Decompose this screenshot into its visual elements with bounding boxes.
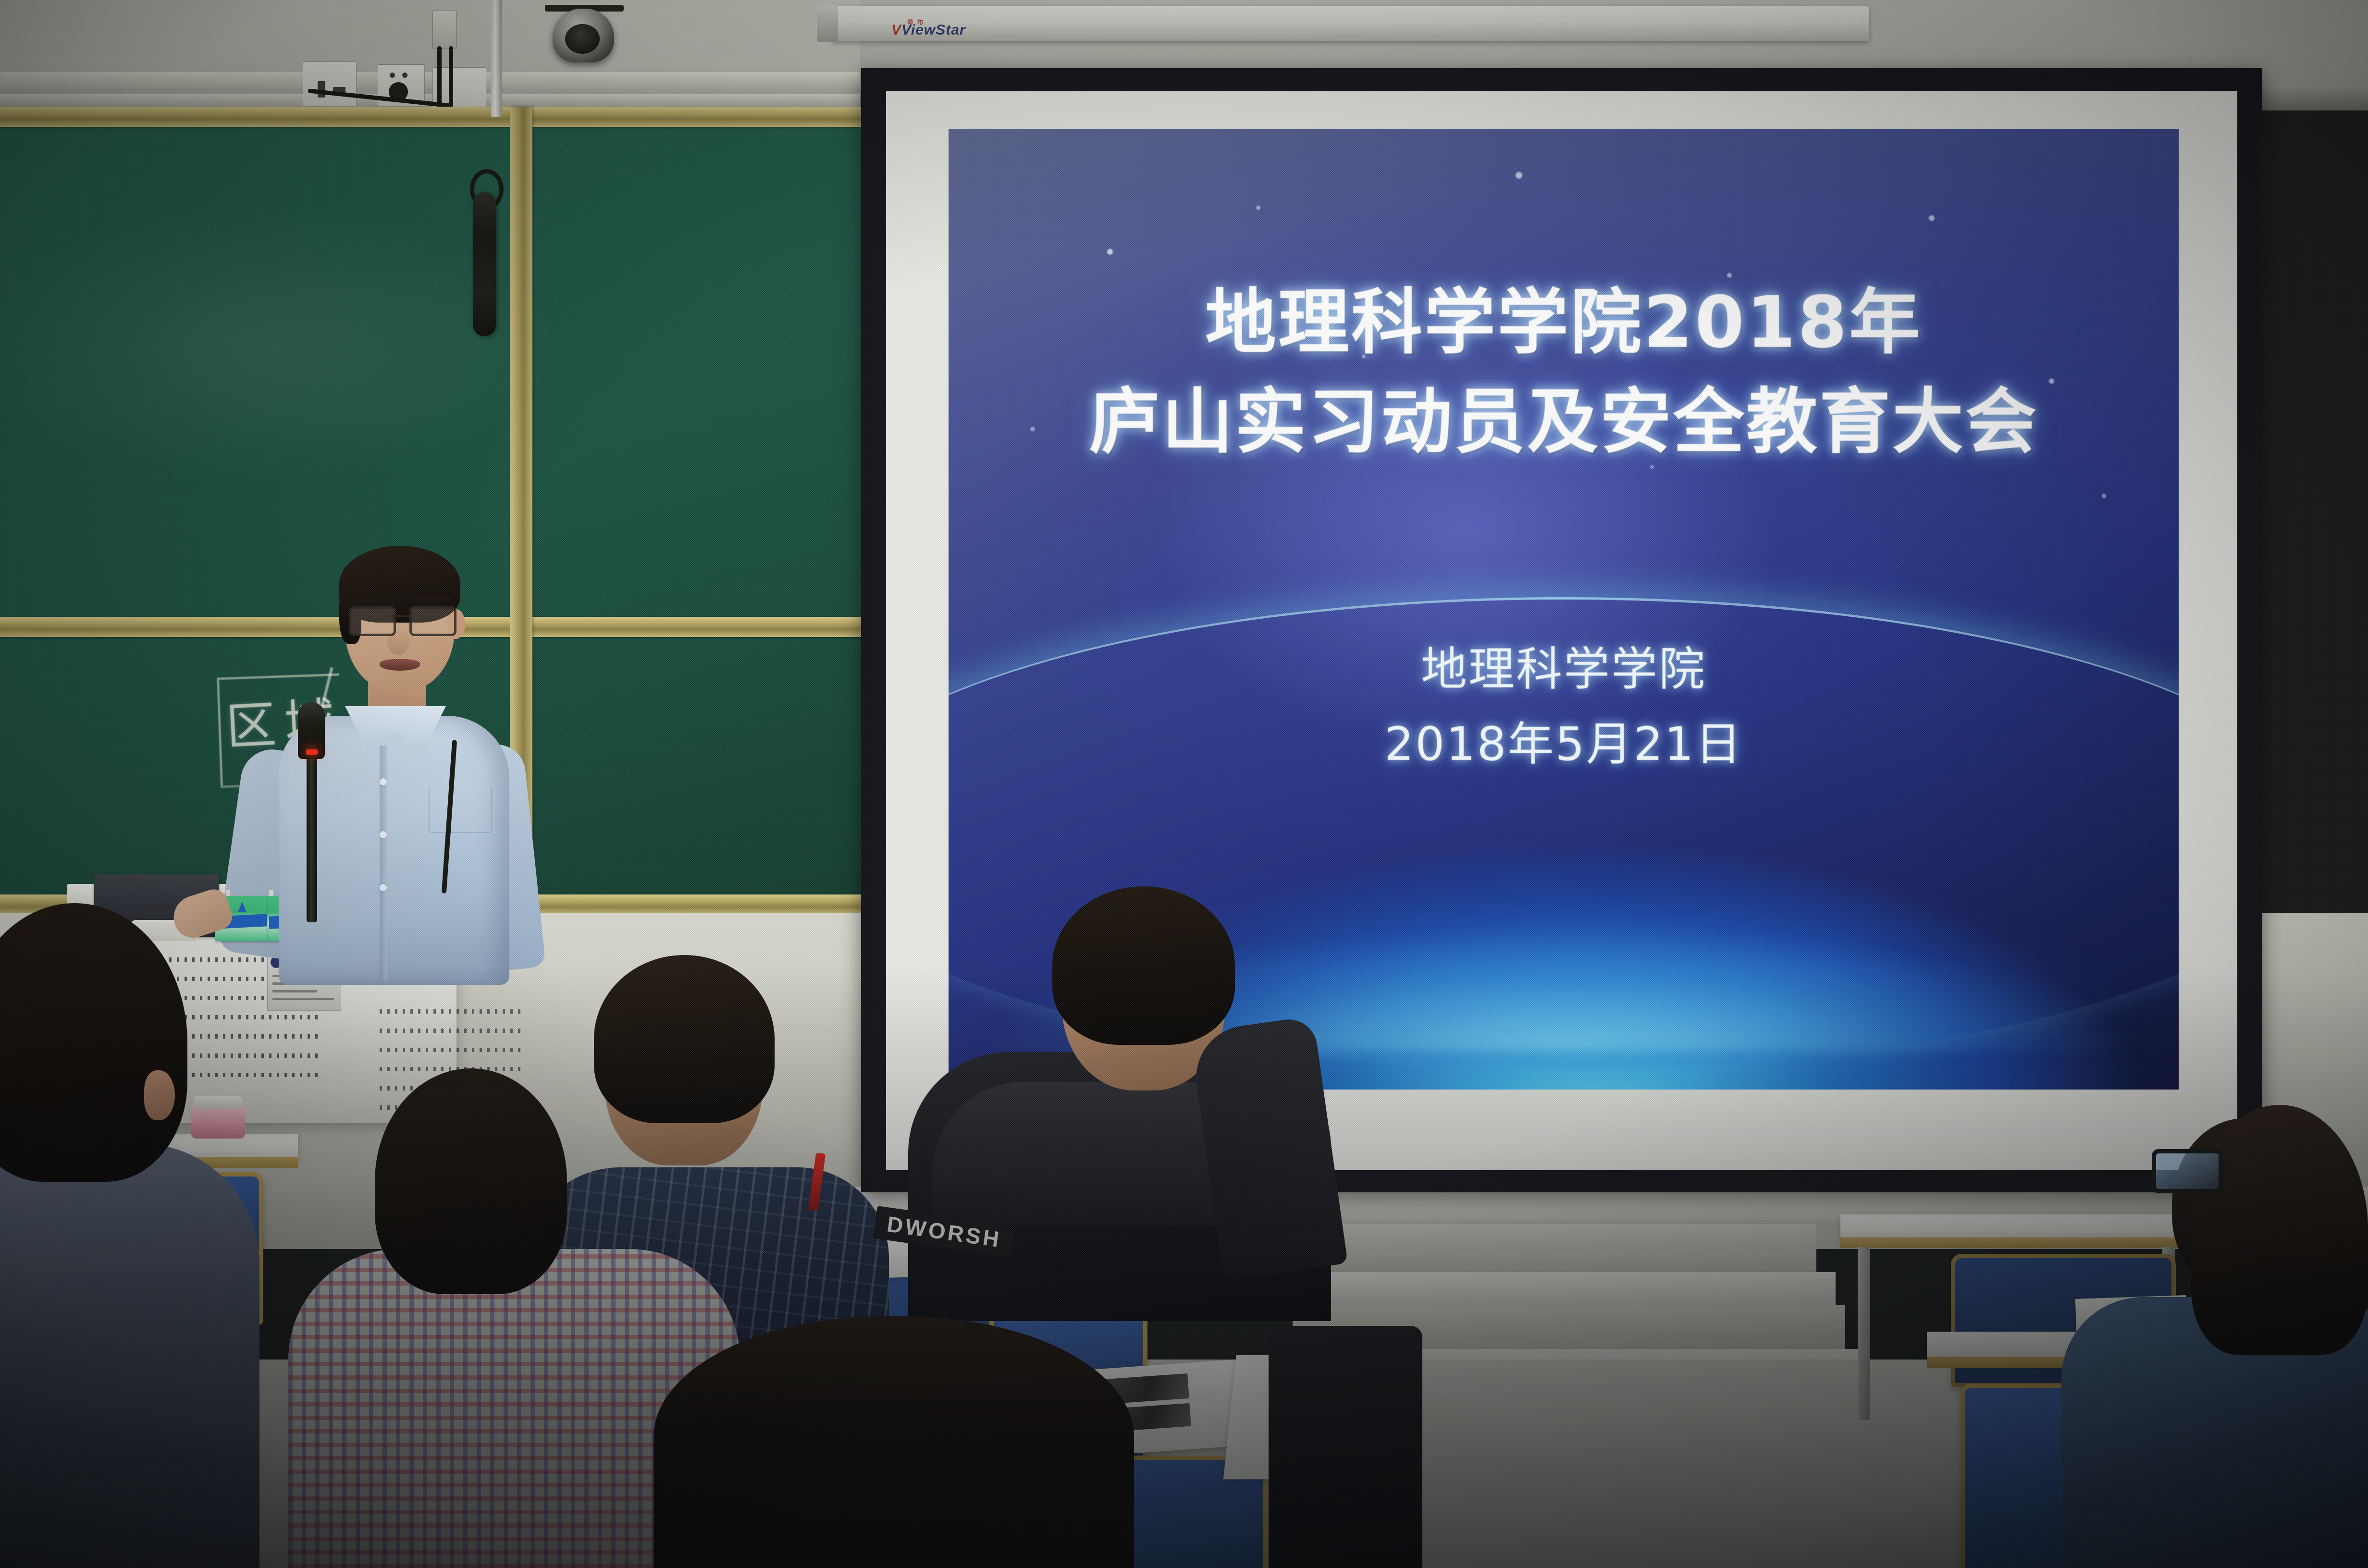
microphone-status-led: [306, 749, 318, 755]
stage-step-riser-1: [1307, 1224, 1816, 1276]
star-particle: [1516, 172, 1522, 179]
warning-triangle-icon: [238, 902, 247, 912]
attendee-center-hair: [1052, 886, 1235, 1045]
pink-cup-lid: [194, 1096, 242, 1109]
attendee-patterned-hair: [594, 955, 775, 1123]
attendee-checkered-head: [375, 1068, 567, 1294]
attendee-left-ear: [144, 1070, 175, 1120]
lecture-hall-photo: 区域 幕 布 VViewStar 地理科学学院2: [0, 0, 2368, 1568]
attendee-right-glasses-icon: [2152, 1149, 2223, 1193]
slide-subtitle-org: 地理科学学院: [949, 632, 2179, 707]
plate-line: [272, 998, 334, 1000]
power-outlet-icon: [303, 61, 357, 107]
eyeglass-lens-right: [409, 606, 456, 636]
conduit-pipe-icon: [0, 72, 860, 88]
shirt-button: [380, 831, 387, 838]
slide-subtitle-date: 2018年5月21日: [949, 707, 2179, 782]
star-particle: [1256, 206, 1260, 210]
screen-roller-housing: [831, 6, 1869, 41]
star-particle: [1929, 215, 1935, 221]
slide-title: 地理科学学院2018年 庐山实习动员及安全教育大会: [949, 273, 2179, 472]
desk-edge: [1840, 1237, 2196, 1248]
presenter-mouth: [380, 659, 420, 671]
slide-title-line-2: 庐山实习动员及安全教育大会: [949, 372, 2179, 472]
eyeglass-lens-left: [349, 606, 396, 636]
dark-bag: [1269, 1326, 1422, 1568]
star-particle: [2102, 494, 2106, 498]
screen-brand-label: VViewStar: [891, 22, 966, 38]
screen-roller-cap: [817, 5, 838, 42]
cable-bundle: [437, 46, 442, 109]
pink-cup: [191, 1104, 245, 1139]
shirt-button: [380, 778, 387, 785]
star-particle: [1107, 249, 1113, 255]
blackboard-rail-top: [0, 107, 870, 127]
hanging-microphone-icon: [473, 192, 496, 336]
attendee-right-hair: [2191, 1105, 2368, 1355]
junction-box-icon: [432, 11, 456, 49]
plate-line: [272, 990, 317, 992]
presenter-eyebrow-right: [414, 596, 451, 601]
attendee-foreground-longhair: [654, 1316, 1134, 1568]
slide-subtitle: 地理科学学院 2018年5月21日: [949, 632, 2179, 782]
presenter-eyebrow-left: [353, 596, 389, 601]
desk-leg: [1858, 1247, 1870, 1420]
slide-title-line-1: 地理科学学院2018年: [949, 273, 2179, 372]
desk-right-far: [1840, 1214, 2196, 1240]
eyeglasses-icon: [349, 606, 452, 632]
eyeglass-bridge: [391, 615, 409, 617]
shirt-button: [380, 884, 387, 891]
attendee-left-torso: [0, 1143, 259, 1568]
screen-brand-text: ViewStar: [901, 22, 966, 38]
presenter-shirt-pocket: [429, 786, 492, 833]
camera-lens-icon: [565, 24, 600, 54]
hanging-rod: [491, 0, 502, 117]
